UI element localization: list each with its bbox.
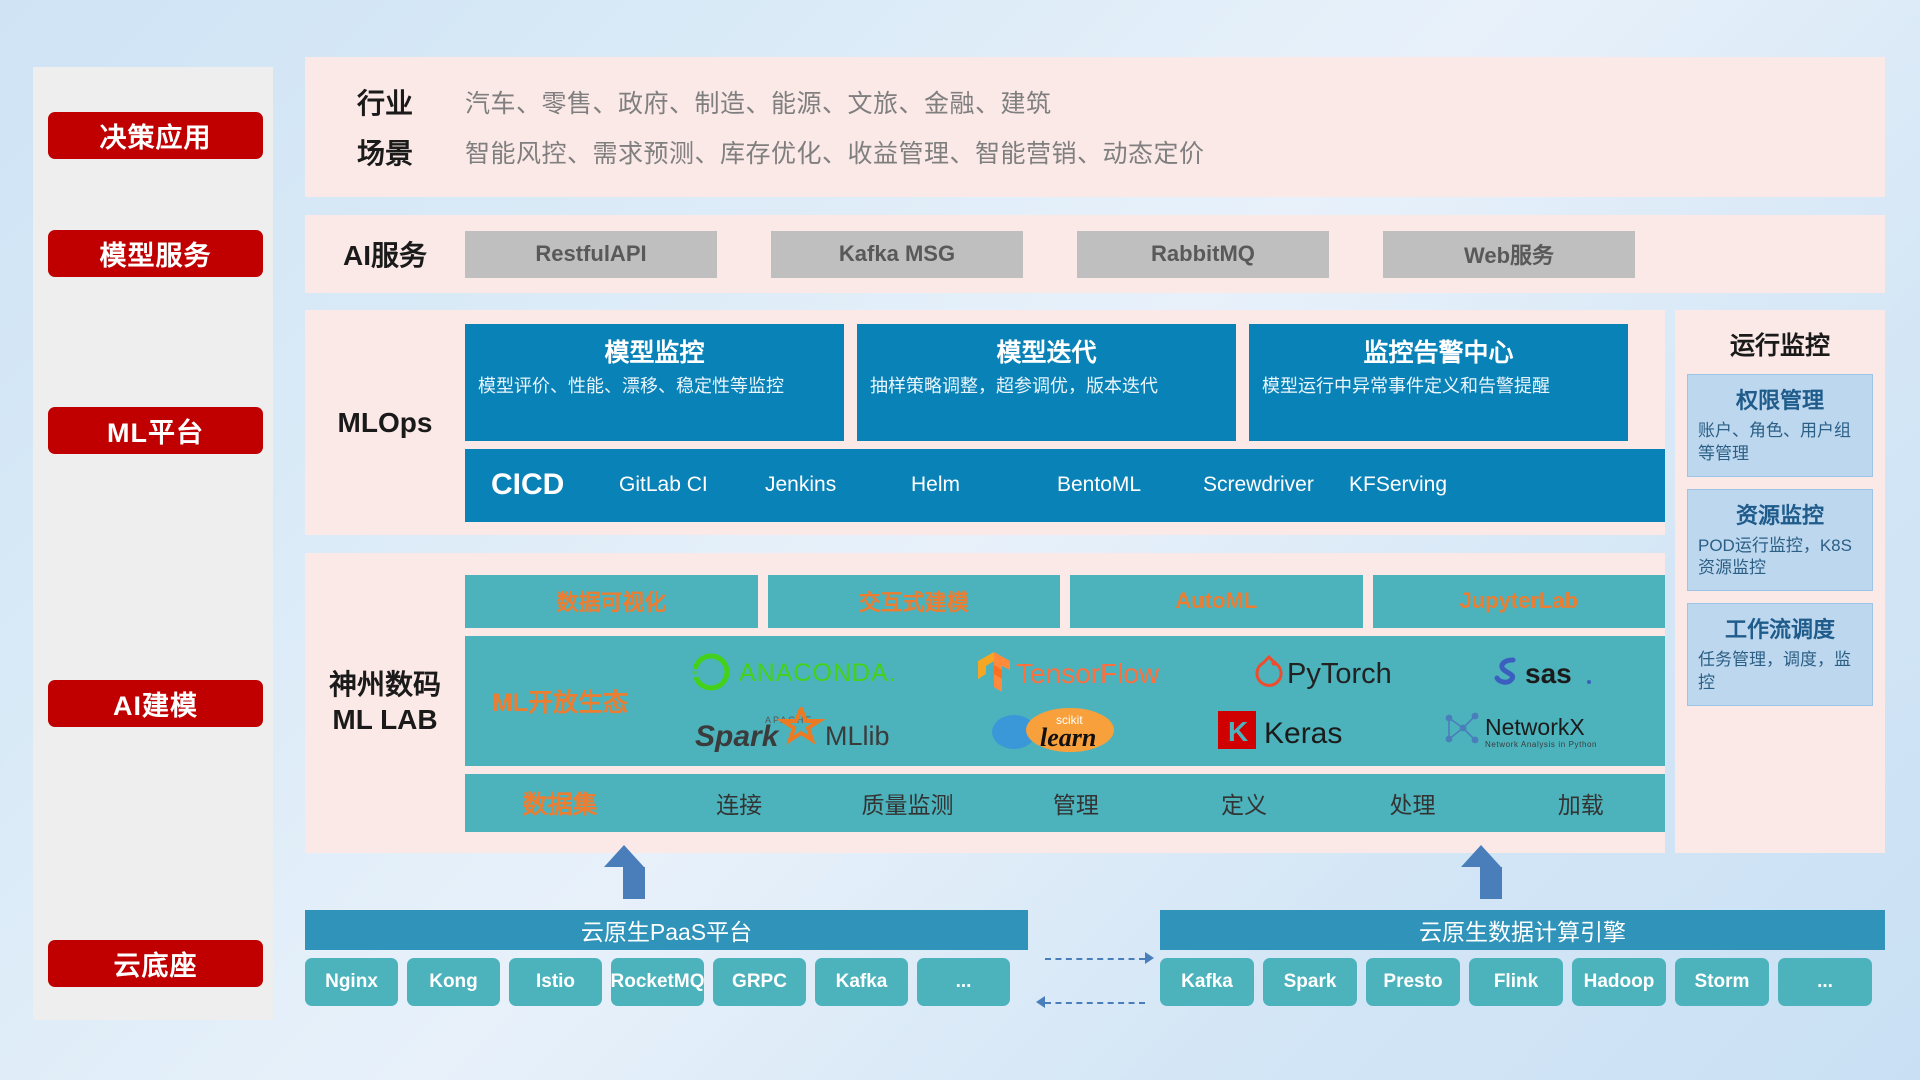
tile-spark[interactable]: Spark — [1263, 958, 1357, 1006]
industry-values: 汽车、零售、政府、制造、能源、文旅、金融、建筑 — [465, 84, 1052, 120]
cicd-item-jenkins[interactable]: Jenkins — [765, 473, 911, 497]
dataset-item-quality[interactable]: 质量监测 — [823, 786, 991, 820]
industry-row: 行业 汽车、零售、政府、制造、能源、文旅、金融、建筑 — [305, 77, 1885, 127]
tab-data-visualization[interactable]: 数据可视化 — [465, 575, 758, 628]
mlops-card-model-iteration[interactable]: 模型迭代 抽样策略调整，超参调优，版本迭代 — [857, 324, 1236, 441]
cicd-item-screwdriver[interactable]: Screwdriver — [1203, 473, 1349, 497]
tile-more-right[interactable]: ... — [1778, 958, 1872, 1006]
tab-interactive-modeling[interactable]: 交互式建模 — [768, 575, 1061, 628]
stage-chip-cloud-base[interactable]: 云底座 — [48, 940, 263, 987]
ml-lab-label-line1: 神州数码 — [305, 668, 465, 703]
scenario-values: 智能风控、需求预测、库存优化、收益管理、智能营销、动态定价 — [465, 134, 1205, 170]
ml-ecosystem-panel: ML开放生态 ANACONDA. — [465, 636, 1665, 766]
industry-label: 行业 — [305, 82, 465, 122]
ai-service-chip-restfulapi[interactable]: RestfulAPI — [465, 231, 717, 278]
paas-group: 云原生PaaS平台 Nginx Kong Istio RocketMQ GRPC… — [305, 910, 1028, 1006]
svg-text:ANACONDA.: ANACONDA. — [739, 659, 897, 687]
data-engine-bar: 云原生数据计算引擎 — [1160, 910, 1885, 950]
mlops-band: MLOps 模型监控 模型评价、性能、漂移、稳定性等监控 模型迭代 抽样策略调整… — [305, 310, 1665, 535]
svg-text:Keras: Keras — [1264, 717, 1342, 750]
svg-text:K: K — [1228, 716, 1248, 747]
scenario-label: 场景 — [305, 132, 465, 172]
stage-chip-label: 云底座 — [114, 944, 198, 983]
tile-flink[interactable]: Flink — [1469, 958, 1563, 1006]
cicd-item-kfserving[interactable]: KFServing — [1349, 473, 1495, 497]
dataset-item-define[interactable]: 定义 — [1160, 786, 1328, 820]
chip-label: Web服务 — [1464, 238, 1554, 270]
chip-label: Kafka MSG — [839, 241, 955, 267]
ml-ecosystem-title: ML开放生态 — [465, 683, 655, 719]
tile-presto[interactable]: Presto — [1366, 958, 1460, 1006]
dataset-title: 数据集 — [465, 785, 655, 821]
tile-nginx[interactable]: Nginx — [305, 958, 398, 1006]
card-desc: 账户、角色、用户组等管理 — [1698, 420, 1862, 466]
dataset-item-connect[interactable]: 连接 — [655, 786, 823, 820]
logo-row-bottom: APACHE Spark MLlib — [665, 702, 1655, 758]
tile-more-left[interactable]: ... — [917, 958, 1010, 1006]
svg-text:PyTorch: PyTorch — [1287, 658, 1392, 690]
tensorflow-logo: TensorFlow — [972, 644, 1202, 700]
card-title: 模型监控 — [478, 333, 831, 369]
mlops-card-alert-center[interactable]: 监控告警中心 模型运行中异常事件定义和告警提醒 — [1249, 324, 1628, 441]
svg-text:TensorFlow: TensorFlow — [1016, 658, 1160, 689]
mlops-card-model-monitoring[interactable]: 模型监控 模型评价、性能、漂移、稳定性等监控 — [465, 324, 844, 441]
cicd-item-helm[interactable]: Helm — [911, 473, 1057, 497]
ai-service-list: RestfulAPI Kafka MSG RabbitMQ Web服务 — [465, 231, 1885, 278]
stage-chip-ml-platform[interactable]: ML平台 — [48, 407, 263, 454]
card-title: 权限管理 — [1698, 383, 1862, 415]
card-title: 工作流调度 — [1698, 612, 1862, 644]
stage-chip-label: ML平台 — [107, 411, 204, 450]
svg-text:learn: learn — [1040, 723, 1096, 752]
scenario-row: 场景 智能风控、需求预测、库存优化、收益管理、智能营销、动态定价 — [305, 127, 1885, 177]
runtime-monitoring-panel: 运行监控 权限管理 账户、角色、用户组等管理 资源监控 POD运行监控，K8S资… — [1675, 310, 1885, 853]
stage-chip-label: AI建模 — [113, 684, 198, 723]
ai-service-chip-web-service[interactable]: Web服务 — [1383, 231, 1635, 278]
card-title: 资源监控 — [1698, 498, 1862, 530]
data-engine-tile-row: Kafka Spark Presto Flink Hadoop Storm ..… — [1160, 958, 1885, 1006]
chip-label: RestfulAPI — [535, 241, 646, 267]
tile-kafka[interactable]: Kafka — [815, 958, 908, 1006]
stage-chip-ai-modeling[interactable]: AI建模 — [48, 680, 263, 727]
ai-service-label: AI服务 — [305, 234, 465, 274]
monitoring-card-workflow[interactable]: 工作流调度 任务管理，调度，监控 — [1687, 603, 1873, 706]
anaconda-logo: ANACONDA. — [691, 644, 921, 700]
tile-hadoop[interactable]: Hadoop — [1572, 958, 1666, 1006]
cicd-title: CICD — [491, 468, 619, 502]
tile-kong[interactable]: Kong — [407, 958, 500, 1006]
spark-mllib-logo: APACHE Spark MLlib — [693, 702, 928, 758]
keras-logo: K Keras — [1216, 702, 1381, 758]
ai-service-chip-rabbitmq[interactable]: RabbitMQ — [1077, 231, 1329, 278]
paas-bar: 云原生PaaS平台 — [305, 910, 1028, 950]
paas-tile-row: Nginx Kong Istio RocketMQ GRPC Kafka ... — [305, 958, 1028, 1006]
dataset-bar: 数据集 连接 质量监测 管理 定义 处理 加载 — [465, 774, 1665, 832]
cicd-item-gitlab-ci[interactable]: GitLab CI — [619, 473, 765, 497]
scikit-learn-logo: scikit learn — [984, 702, 1159, 758]
tab-jupyterlab[interactable]: JupyterLab — [1373, 575, 1666, 628]
stage-chip-model-service[interactable]: 模型服务 — [48, 230, 263, 277]
cloud-base-section: 云原生PaaS平台 Nginx Kong Istio RocketMQ GRPC… — [305, 880, 1885, 1040]
logo-row-top: ANACONDA. TensorFlow — [665, 644, 1655, 700]
stage-rail — [33, 67, 273, 1020]
industry-scenario-band: 行业 汽车、零售、政府、制造、能源、文旅、金融、建筑 场景 智能风控、需求预测、… — [305, 57, 1885, 197]
ml-lab-label-line2: ML LAB — [305, 703, 465, 738]
ml-lab-label: 神州数码 ML LAB — [305, 668, 465, 737]
dataset-item-load[interactable]: 加载 — [1497, 786, 1665, 820]
tile-rocketmq[interactable]: RocketMQ — [611, 958, 704, 1006]
stage-chip-label: 模型服务 — [100, 234, 212, 273]
monitoring-card-resource[interactable]: 资源监控 POD运行监控，K8S资源监控 — [1687, 489, 1873, 592]
mlops-card-list: 模型监控 模型评价、性能、漂移、稳定性等监控 模型迭代 抽样策略调整，超参调优，… — [465, 324, 1665, 441]
tile-istio[interactable]: Istio — [509, 958, 602, 1006]
tile-storm[interactable]: Storm — [1675, 958, 1769, 1006]
mlops-label: MLOps — [305, 407, 465, 439]
ml-lab-content: 数据可视化 交互式建模 AutoML JupyterLab ML开放生态 — [465, 575, 1665, 832]
architecture-diagram: 决策应用 模型服务 ML平台 AI建模 云底座 行业 汽车、零售、政府、制造、能… — [0, 0, 1920, 1080]
sas-logo: sas — [1489, 644, 1629, 700]
ai-service-chip-kafka-msg[interactable]: Kafka MSG — [771, 231, 1023, 278]
networkx-logo: NetworkX Network Analysis in Python — [1437, 702, 1627, 758]
stage-chip-decision-app[interactable]: 决策应用 — [48, 112, 263, 159]
card-desc: 模型评价、性能、漂移、稳定性等监控 — [478, 375, 831, 399]
data-engine-group: 云原生数据计算引擎 Kafka Spark Presto Flink Hadoo… — [1160, 910, 1885, 1006]
card-desc: POD运行监控，K8S资源监控 — [1698, 535, 1862, 581]
svg-text:NetworkX: NetworkX — [1485, 714, 1585, 740]
cicd-bar: CICD GitLab CI Jenkins Helm BentoML Scre… — [465, 449, 1665, 522]
chip-label: RabbitMQ — [1151, 241, 1255, 267]
svg-text:MLlib: MLlib — [825, 721, 890, 751]
mlops-content: 模型监控 模型评价、性能、漂移、稳定性等监控 模型迭代 抽样策略调整，超参调优，… — [465, 324, 1665, 522]
tile-kafka-right[interactable]: Kafka — [1160, 958, 1254, 1006]
logo-grid: ANACONDA. TensorFlow — [655, 636, 1665, 766]
dataset-item-manage[interactable]: 管理 — [992, 786, 1160, 820]
ai-service-band: AI服务 RestfulAPI Kafka MSG RabbitMQ Web服务 — [305, 215, 1885, 293]
card-desc: 任务管理，调度，监控 — [1698, 649, 1862, 695]
monitoring-card-permission[interactable]: 权限管理 账户、角色、用户组等管理 — [1687, 374, 1873, 477]
card-title: 监控告警中心 — [1262, 333, 1615, 369]
runtime-monitoring-title: 运行监控 — [1687, 326, 1873, 362]
pytorch-logo: PyTorch — [1253, 644, 1438, 700]
cicd-item-bentoml[interactable]: BentoML — [1057, 473, 1203, 497]
stage-chip-label: 决策应用 — [100, 116, 212, 155]
tab-automl[interactable]: AutoML — [1070, 575, 1363, 628]
card-title: 模型迭代 — [870, 333, 1223, 369]
card-desc: 抽样策略调整，超参调优，版本迭代 — [870, 375, 1223, 399]
tile-grpc[interactable]: GRPC — [713, 958, 806, 1006]
card-desc: 模型运行中异常事件定义和告警提醒 — [1262, 375, 1615, 399]
svg-text:Spark: Spark — [695, 720, 780, 753]
svg-text:Network Analysis in Python: Network Analysis in Python — [1485, 740, 1597, 749]
ml-lab-band: 神州数码 ML LAB 数据可视化 交互式建模 AutoML JupyterLa… — [305, 553, 1665, 853]
dataset-item-process[interactable]: 处理 — [1328, 786, 1496, 820]
ml-lab-tabs: 数据可视化 交互式建模 AutoML JupyterLab — [465, 575, 1665, 628]
svg-text:sas: sas — [1525, 658, 1572, 689]
